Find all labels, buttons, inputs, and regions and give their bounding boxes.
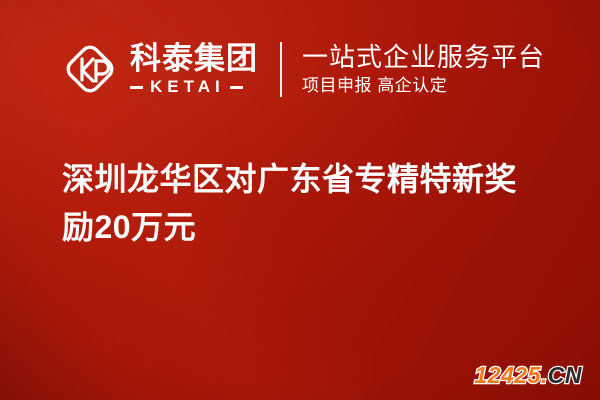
ketai-kp-monogram-icon: [62, 41, 118, 97]
logo-dash-left-icon: [130, 86, 143, 89]
tagline-sub: 项目申报 高企认定: [302, 76, 545, 96]
logo-wordmark: 科泰集团 KETAI: [130, 42, 258, 96]
tagline-main: 一站式企业服务平台: [302, 43, 545, 72]
logo-company-name-cn: 科泰集团: [130, 42, 258, 75]
watermark: 12425.CN: [474, 362, 582, 388]
vertical-divider-icon: [280, 42, 282, 97]
poster-banner: 科泰集团 KETAI 一站式企业服务平台 项目申报 高企认定 深圳龙华区对广东省…: [0, 0, 600, 400]
logo-company-name-en-row: KETAI: [130, 78, 258, 96]
page-title: 深圳龙华区对广东省专精特新奖励20万元: [62, 155, 542, 251]
tagline: 一站式企业服务平台 项目申报 高企认定: [302, 43, 545, 96]
logo-dash-right-icon: [230, 86, 243, 89]
header: 科泰集团 KETAI 一站式企业服务平台 项目申报 高企认定: [62, 38, 545, 100]
watermark-number: 12425.: [474, 362, 547, 388]
watermark-tld: CN: [548, 362, 582, 388]
logo-company-name-en: KETAI: [143, 78, 230, 96]
